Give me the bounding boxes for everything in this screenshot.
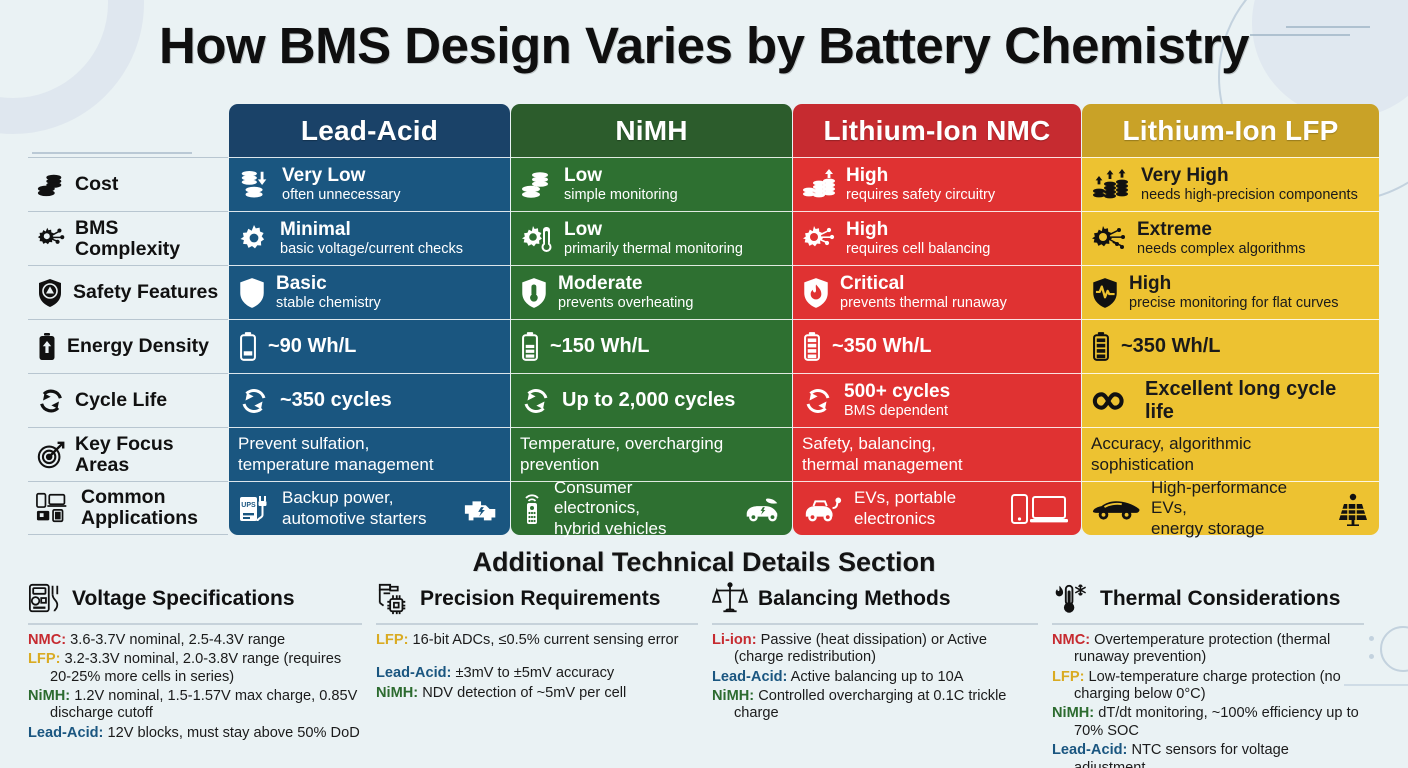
cell-sub-value: BMS dependent: [844, 403, 950, 419]
cell-text: Accuracy, algorithmicsophistication: [1091, 434, 1251, 474]
detail-key: Li-ion:: [712, 632, 757, 648]
cell-lead-acid-cycle-life: ~350 cycles: [229, 373, 510, 427]
detail-line: NiMH: NDV detection of ~5mV per cell: [376, 685, 698, 702]
detail-line: Lead-Acid: ±3mV to ±5mV accuracy: [376, 665, 698, 682]
cell-main-value: ~150 Wh/L: [550, 335, 649, 358]
row-label-text: CommonApplications: [81, 487, 198, 529]
cell-lead-acid-cost: Very Low often unnecessary: [229, 157, 510, 211]
devices-icon: [36, 492, 72, 524]
coins-icon: [520, 169, 554, 201]
detail-text: dT/dt monitoring, ~100% efficiency up to…: [1074, 705, 1359, 738]
ev-plug-car-icon: [802, 494, 844, 524]
detail-key: LFP:: [28, 651, 60, 667]
multimeter-icon: [28, 582, 62, 616]
column-header-nimh: NiMH: [511, 104, 792, 157]
panel-divider: [712, 623, 1038, 625]
gear-circuit-icon: [802, 223, 836, 255]
infinity-icon: [1091, 386, 1135, 416]
panel-voltage-specifications: Voltage Specifications NMC: 3.6-3.7V nom…: [28, 582, 376, 768]
cell-main-value: High: [846, 220, 990, 240]
detail-key: Lead-Acid:: [28, 725, 103, 741]
cell-plain-value: Prevent sulfation,temperature management: [238, 434, 434, 474]
cell-text: Low simple monitoring: [564, 166, 678, 203]
detail-line: NMC: Overtemperature protection (thermal…: [1052, 632, 1364, 667]
cell-nimh-key-focus-areas: Temperature, overchargingprevention: [511, 427, 792, 481]
cell-main-value: High: [1129, 274, 1339, 294]
detail-text: 3.2-3.3V nominal, 2.0-3.8V range (requir…: [50, 651, 341, 684]
cell-main-value: Extreme: [1137, 220, 1305, 240]
cell-text: Prevent sulfation,temperature management: [238, 434, 434, 474]
cell-nimh-common-applications: Consumer electronics,hybrid vehicles: [511, 481, 792, 535]
detail-key: Lead-Acid:: [712, 669, 787, 685]
detail-line: NiMH: 1.2V nominal, 1.5-1.57V max charge…: [28, 688, 362, 723]
cell-text: High requires cell balancing: [846, 220, 990, 257]
target-arrow-icon: [36, 440, 66, 470]
detail-line: Lead-Acid: 12V blocks, must stay above 5…: [28, 725, 362, 742]
cell-text: Minimal basic voltage/current checks: [280, 220, 463, 257]
cell-plain-value: Safety, balancing,thermal management: [802, 434, 963, 474]
gear-circuit-icon: [1091, 223, 1127, 255]
cell-sub-value: stable chemistry: [276, 295, 381, 311]
cell-text: Up to 2,000 cycles: [562, 389, 735, 412]
gear-thermo-icon: [520, 223, 554, 255]
cell-plain-value: Consumer electronics,hybrid vehicles: [554, 478, 721, 538]
detail-line: Lead-Acid: Active balancing up to 10A: [712, 669, 1038, 686]
cell-nmc-cost: High requires safety circuitry: [793, 157, 1081, 211]
detail-line: LFP: 16-bit ADCs, ≤0.5% current sensing …: [376, 632, 698, 649]
cell-main-value: High: [846, 166, 995, 186]
cell-sub-value: precise monitoring for flat curves: [1129, 295, 1339, 311]
detail-text: 16-bit ADCs, ≤0.5% current sensing error: [408, 632, 678, 648]
cell-lfp-cost: Very High needs high-precision component…: [1082, 157, 1379, 211]
cell-sub-value: simple monitoring: [564, 187, 678, 203]
details-panels: Voltage Specifications NMC: 3.6-3.7V nom…: [28, 582, 1378, 768]
panel-divider: [1052, 623, 1364, 625]
row-label-safety-features: Safety Features: [28, 265, 228, 319]
shield-icon: [238, 277, 266, 309]
cell-lead-acid-safety-features: Basic stable chemistry: [229, 265, 510, 319]
row-label-text: Safety Features: [73, 282, 218, 303]
detail-line: LFP: Low-temperature charge protection (…: [1052, 669, 1364, 704]
shield-thermo-icon: [520, 277, 548, 309]
row-label-energy-density: Energy Density: [28, 319, 228, 373]
cell-plain-value: EVs, portableelectronics: [854, 488, 956, 528]
cell-plain-value: Temperature, overchargingprevention: [520, 434, 723, 474]
cell-text: ~90 Wh/L: [268, 335, 356, 358]
detail-text: 12V blocks, must stay above 50% DoD: [103, 725, 359, 741]
cell-text: Critical prevents thermal runaway: [840, 274, 1007, 311]
cell-nmc-bms-complexity: High requires cell balancing: [793, 211, 1081, 265]
cycle-arrows-icon: [36, 386, 66, 416]
detail-key: NMC:: [1052, 632, 1090, 648]
ups-plug-icon: UPS: [238, 493, 272, 525]
cell-main-value: Low: [564, 220, 743, 240]
detail-text: 1.2V nominal, 1.5-1.57V max charge, 0.85…: [50, 688, 357, 721]
gear-icon: [238, 223, 270, 255]
detail-key: LFP:: [1052, 669, 1084, 685]
cell-text: High precise monitoring for flat curves: [1129, 274, 1339, 311]
panel-precision-requirements: Precision Requirements LFP: 16-bit ADCs,…: [376, 582, 712, 768]
detail-key: NiMH:: [376, 685, 418, 701]
row-label-header-spacer: [28, 104, 228, 157]
cell-text: Moderate prevents overheating: [558, 274, 693, 311]
cell-lead-acid-key-focus-areas: Prevent sulfation,temperature management: [229, 427, 510, 481]
row-label-common-applications: CommonApplications: [28, 481, 228, 535]
cell-plain-value: Backup power,automotive starters: [282, 488, 427, 528]
battery-full-icon: [1091, 331, 1111, 363]
phone-laptop-icon: [1010, 492, 1072, 526]
cell-main-value: ~350 Wh/L: [832, 335, 931, 358]
gear-circuit-icon: [36, 224, 66, 254]
cell-main-value: Very High: [1141, 166, 1358, 186]
battery-mid-icon: [520, 331, 540, 363]
cell-main-value: Up to 2,000 cycles: [562, 389, 735, 412]
cell-nmc-cycle-life: 500+ cycles BMS dependent: [793, 373, 1081, 427]
cell-lfp-key-focus-areas: Accuracy, algorithmicsophistication: [1082, 427, 1379, 481]
row-label-key-focus-areas: Key Focus Areas: [28, 427, 228, 481]
row-label-cost: Cost: [28, 157, 228, 211]
column-header-lithium-ion-nmc: Lithium-Ion NMC: [793, 104, 1081, 157]
detail-key: Lead-Acid:: [376, 665, 451, 681]
detail-line: NMC: 3.6-3.7V nominal, 2.5-4.3V range: [28, 632, 362, 649]
row-label-text: Cycle Life: [75, 390, 167, 411]
cell-main-value: 500+ cycles: [844, 382, 950, 402]
cell-text: Very High needs high-precision component…: [1141, 166, 1358, 203]
cell-sub-value: basic voltage/current checks: [280, 241, 463, 257]
caliper-chip-icon: [376, 582, 410, 616]
detail-text: NDV detection of ~5mV per cell: [418, 685, 626, 701]
fire-thermo-snow-icon: [1052, 582, 1090, 616]
detail-text: Low-temperature charge protection (no ch…: [1074, 669, 1341, 702]
balance-scale-icon: [712, 582, 748, 616]
cell-text: Backup power,automotive starters: [282, 488, 427, 528]
row-label-bms-complexity: BMS Complexity: [28, 211, 228, 265]
cell-main-value: Critical: [840, 274, 1007, 294]
cell-text: Temperature, overchargingprevention: [520, 434, 723, 474]
cell-main-value: Moderate: [558, 274, 693, 294]
column-header-lead-acid: Lead-Acid: [229, 104, 510, 157]
cell-plain-value: High-performance EVs,energy storage: [1151, 478, 1316, 538]
cell-nmc-energy-density: ~350 Wh/L: [793, 319, 1081, 373]
detail-line: NiMH: Controlled overcharging at 0.1C tr…: [712, 688, 1038, 723]
panel-title: Thermal Considerations: [1100, 587, 1340, 611]
panel-title: Voltage Specifications: [72, 587, 295, 611]
cell-lead-acid-energy-density: ~90 Wh/L: [229, 319, 510, 373]
cell-main-value: ~90 Wh/L: [268, 335, 356, 358]
cell-sub-value: requires safety circuitry: [846, 187, 995, 203]
cell-sub-value: primarily thermal monitoring: [564, 241, 743, 257]
panel-header: Precision Requirements: [376, 582, 698, 616]
detail-key: NiMH:: [712, 688, 754, 704]
cycle-arrows-icon: [238, 385, 270, 417]
panel-title: Balancing Methods: [758, 587, 951, 611]
comparison-matrix: Cost BMS Complexity: [28, 104, 1376, 535]
panel-title: Precision Requirements: [420, 587, 660, 611]
cell-sub-value: prevents overheating: [558, 295, 693, 311]
cell-main-value: Low: [564, 166, 678, 186]
battery-full-icon: [802, 331, 822, 363]
svg-text:UPS: UPS: [241, 502, 256, 509]
cycle-arrows-icon: [802, 385, 834, 417]
cell-text: Excellent long cycle life: [1145, 378, 1370, 424]
cell-nimh-cost: Low simple monitoring: [511, 157, 792, 211]
detail-text: Controlled overcharging at 0.1C trickle …: [734, 688, 1006, 721]
cell-nimh-bms-complexity: Low primarily thermal monitoring: [511, 211, 792, 265]
details-section-title: Additional Technical Details Section: [0, 547, 1408, 578]
detail-text: Overtemperature protection (thermal runa…: [1074, 632, 1330, 665]
cell-lead-acid-common-applications: UPS Backup power,automotive starters: [229, 481, 510, 535]
cell-main-value: ~350 Wh/L: [1121, 335, 1220, 358]
shield-pulse-icon: [1091, 277, 1119, 309]
cell-lead-acid-bms-complexity: Minimal basic voltage/current checks: [229, 211, 510, 265]
cell-nmc-safety-features: Critical prevents thermal runaway: [793, 265, 1081, 319]
cell-main-value: ~350 cycles: [280, 389, 392, 412]
detail-line: NiMH: dT/dt monitoring, ~100% efficiency…: [1052, 705, 1364, 740]
cell-sub-value: needs complex algorithms: [1137, 241, 1305, 257]
decor-ring-bottom-right-icon: [1380, 626, 1408, 672]
detail-line: Li-ion: Passive (heat dissipation) or Ac…: [712, 632, 1038, 667]
remote-icon: [520, 492, 544, 526]
cell-nimh-energy-density: ~150 Wh/L: [511, 319, 792, 373]
cell-sub-value: prevents thermal runaway: [840, 295, 1007, 311]
cell-text: 500+ cycles BMS dependent: [844, 382, 950, 419]
coins-up-icon: [802, 168, 836, 202]
cell-text: High-performance EVs,energy storage: [1151, 478, 1316, 538]
cell-text: EVs, portableelectronics: [854, 488, 956, 528]
cell-main-value: Basic: [276, 274, 381, 294]
cell-main-value: Minimal: [280, 220, 463, 240]
panel-header: Balancing Methods: [712, 582, 1038, 616]
detail-line: LFP: 3.2-3.3V nominal, 2.0-3.8V range (r…: [28, 651, 362, 686]
detail-key: NMC:: [28, 632, 66, 648]
cell-text: Safety, balancing,thermal management: [802, 434, 963, 474]
cell-plain-value: Accuracy, algorithmicsophistication: [1091, 434, 1251, 474]
detail-key: NiMH:: [28, 688, 70, 704]
cycle-arrows-icon: [520, 385, 552, 417]
coins-icon: [36, 170, 66, 200]
column-lithium-ion-nmc: Lithium-Ion NMC High requires safety cir…: [793, 104, 1081, 535]
detail-text: ±3mV to ±5mV accuracy: [451, 665, 614, 681]
column-lithium-ion-lfp: Lithium-Ion LFP Very High needs high-pre…: [1082, 104, 1379, 535]
panel-header: Voltage Specifications: [28, 582, 362, 616]
panel-balancing-methods: Balancing Methods Li-ion: Passive (heat …: [712, 582, 1052, 768]
row-label-text: Energy Density: [67, 336, 209, 357]
detail-text: Active balancing up to 10A: [787, 669, 963, 685]
cell-nimh-cycle-life: Up to 2,000 cycles: [511, 373, 792, 427]
cell-text: Basic stable chemistry: [276, 274, 381, 311]
detail-key: LFP:: [376, 632, 408, 648]
coins-down-icon: [238, 168, 272, 202]
cell-text: Extreme needs complex algorithms: [1137, 220, 1305, 257]
column-header-lithium-ion-lfp: Lithium-Ion LFP: [1082, 104, 1379, 157]
column-lead-acid: Lead-Acid Very Low often unnecessary: [229, 104, 510, 535]
sports-car-icon: [1091, 496, 1141, 522]
cell-lfp-safety-features: High precise monitoring for flat curves: [1082, 265, 1379, 319]
page-title: How BMS Design Varies by Battery Chemist…: [0, 16, 1408, 75]
detail-text: 3.6-3.7V nominal, 2.5-4.3V range: [66, 632, 285, 648]
cell-nmc-key-focus-areas: Safety, balancing,thermal management: [793, 427, 1081, 481]
row-label-column: Cost BMS Complexity: [28, 104, 228, 535]
panel-thermal-considerations: Thermal Considerations NMC: Overtemperat…: [1052, 582, 1378, 768]
detail-text: Passive (heat dissipation) or Active (ch…: [734, 632, 987, 665]
engine-icon: [463, 494, 501, 524]
row-label-cycle-life: Cycle Life: [28, 373, 228, 427]
cell-main-value: Very Low: [282, 166, 401, 186]
detail-key: NiMH:: [1052, 705, 1094, 721]
cell-nimh-safety-features: Moderate prevents overheating: [511, 265, 792, 319]
column-nimh: NiMH Low simple monitoring: [511, 104, 792, 535]
row-label-text: Cost: [75, 174, 118, 195]
cell-nmc-common-applications: EVs, portableelectronics: [793, 481, 1081, 535]
detail-line: Lead-Acid: NTC sensors for voltage adjus…: [1052, 742, 1364, 768]
row-label-text: Key Focus Areas: [75, 434, 228, 476]
cell-text: ~350 Wh/L: [1121, 335, 1220, 358]
cell-text: Very Low often unnecessary: [282, 166, 401, 203]
cell-lfp-energy-density: ~350 Wh/L: [1082, 319, 1379, 373]
cell-text: High requires safety circuitry: [846, 166, 995, 203]
cell-sub-value: needs high-precision components: [1141, 187, 1358, 203]
cell-lfp-common-applications: High-performance EVs,energy storage: [1082, 481, 1379, 535]
row-label-text: BMS Complexity: [75, 218, 228, 260]
panel-divider: [28, 623, 362, 625]
cell-sub-value: requires cell balancing: [846, 241, 990, 257]
hybrid-car-icon: [741, 494, 783, 524]
cell-text: ~350 Wh/L: [832, 335, 931, 358]
cell-lfp-cycle-life: Excellent long cycle life: [1082, 373, 1379, 427]
solar-panel-icon: [1336, 492, 1370, 526]
cell-text: ~150 Wh/L: [550, 335, 649, 358]
shield-fire-icon: [802, 277, 830, 309]
cell-main-value: Excellent long cycle life: [1145, 378, 1370, 424]
cell-lfp-bms-complexity: Extreme needs complex algorithms: [1082, 211, 1379, 265]
battery-low-icon: [238, 331, 258, 363]
panel-header: Thermal Considerations: [1052, 582, 1364, 616]
cell-text: Low primarily thermal monitoring: [564, 220, 743, 257]
coins-up-multi-icon: [1091, 168, 1131, 202]
cell-text: Consumer electronics,hybrid vehicles: [554, 478, 721, 538]
shield-warning-icon: [36, 278, 64, 308]
panel-divider: [376, 623, 698, 625]
battery-arrow-icon: [36, 332, 58, 362]
cell-sub-value: often unnecessary: [282, 187, 401, 203]
cell-text: ~350 cycles: [280, 389, 392, 412]
detail-key: Lead-Acid:: [1052, 742, 1127, 758]
